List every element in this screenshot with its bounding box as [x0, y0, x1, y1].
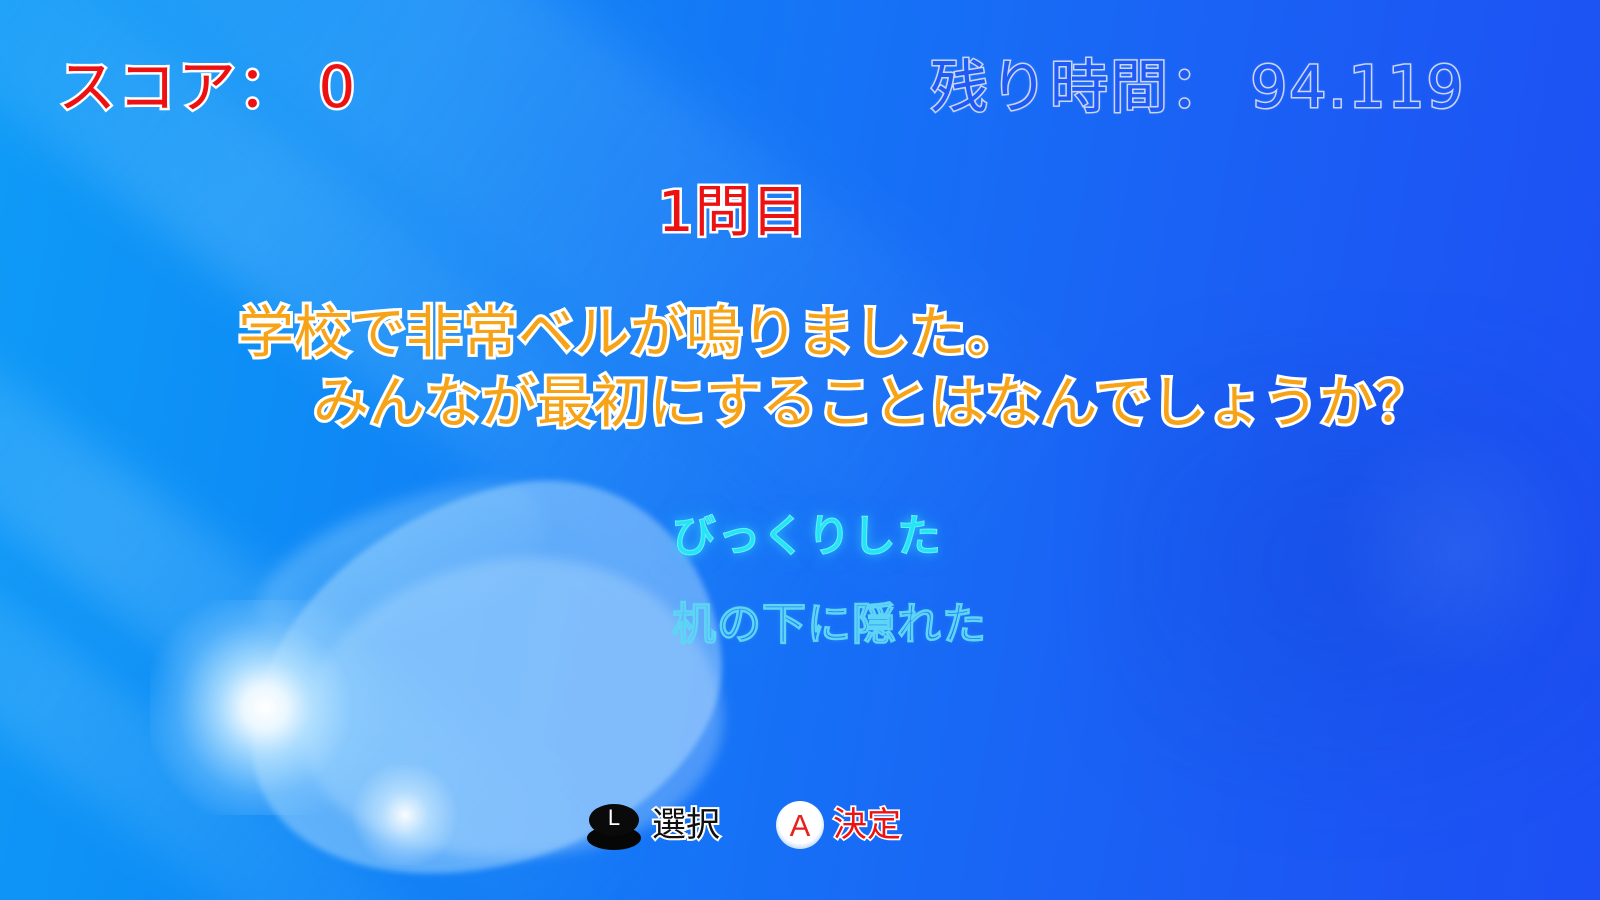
score-display: スコア： 0 — [58, 58, 357, 116]
game-screen: スコア： 0 残り時間： 94.119 1問目 学校で非常ベルが鳴りました。 み… — [0, 0, 1600, 900]
a-button-label: A — [776, 810, 824, 841]
question-text-line-1: 学校で非常ベルが鳴りました。 — [238, 306, 1022, 362]
a-button-icon: A — [776, 801, 824, 849]
control-hint-bar: L 選択 A 決定 — [585, 800, 901, 850]
background-glow-orb — [150, 600, 380, 815]
background-glow-orb — [350, 765, 460, 865]
question-number: 1問目 — [658, 185, 809, 241]
background-glow-orb — [1330, 420, 1590, 680]
select-control-hint[interactable]: L 選択 — [585, 800, 720, 850]
confirm-control-hint[interactable]: A 決定 — [776, 801, 901, 849]
confirm-hint-label: 決定 — [833, 808, 901, 842]
answer-choice-selected[interactable]: びっくりした — [672, 515, 942, 559]
answer-choice[interactable]: 机の下に隠れた — [672, 603, 987, 647]
select-hint-label: 選択 — [652, 808, 720, 842]
question-text-line-2: みんなが最初にすることはなんでしょうか？ — [313, 376, 1431, 432]
analog-stick-icon: L — [585, 800, 643, 850]
background-light-streak — [0, 106, 640, 900]
background-wave-highlight — [239, 462, 561, 669]
analog-stick-label: L — [585, 807, 643, 829]
timer-display: 残り時間： 94.119 — [930, 58, 1465, 116]
